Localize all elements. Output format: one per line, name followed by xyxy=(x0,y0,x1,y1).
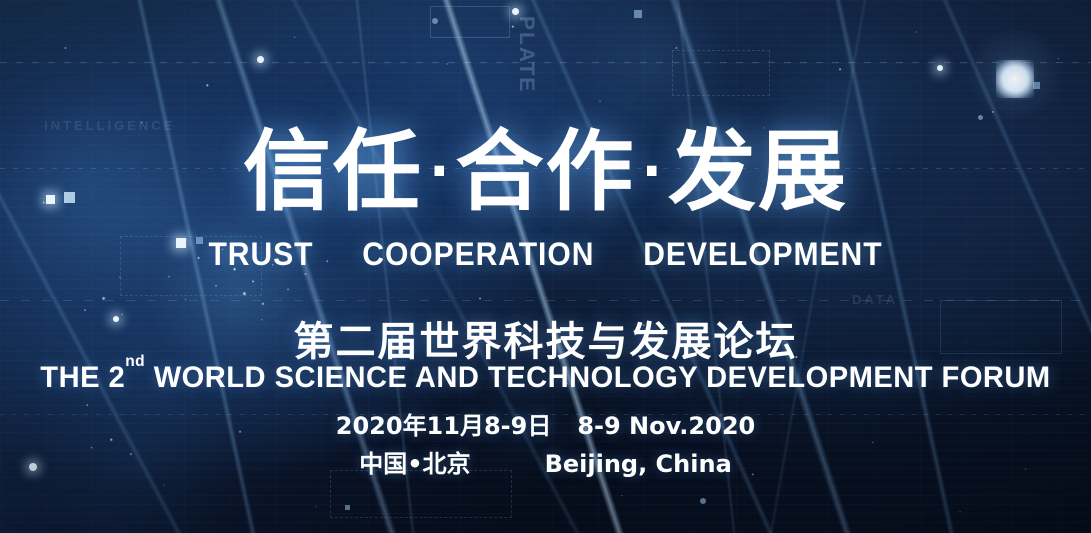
poster-content: 信任·合作·发展 TRUSTCOOPERATIONDEVELOPMENT 第二届… xyxy=(0,0,1091,533)
subtitle-word-cooperation: COOPERATION xyxy=(362,236,594,272)
event-date-chinese: 2020年11月8-9日 xyxy=(336,412,552,440)
event-date: 2020年11月8-9日8-9 Nov.2020 xyxy=(0,414,1091,438)
forum-title-prefix: THE 2 xyxy=(40,361,125,394)
forum-title-english: THE 2nd WORLD SCIENCE AND TECHNOLOGY DEV… xyxy=(16,363,1074,393)
event-location-english: Beijing, China xyxy=(545,450,732,478)
subtitle-word-trust: TRUST xyxy=(208,236,313,272)
forum-title-chinese: 第二届世界科技与发展论坛 xyxy=(0,322,1091,362)
headline-separator-dot: · xyxy=(642,140,663,203)
headline-slogan: 信任·合作·发展 xyxy=(0,128,1091,216)
headline-word-trust: 信任 xyxy=(243,120,423,223)
headline-slogan-english: TRUSTCOOPERATIONDEVELOPMENT xyxy=(33,238,1059,270)
forum-title-ordinal: nd xyxy=(125,353,145,370)
subtitle-word-development: DEVELOPMENT xyxy=(643,236,882,272)
forum-title-suffix: WORLD SCIENCE AND TECHNOLOGY DEVELOPMENT… xyxy=(145,361,1051,394)
headline-word-cooperation: 合作 xyxy=(455,120,635,223)
event-location-chinese: 中国•北京 xyxy=(359,450,470,478)
event-poster: PLATE INTELLIGENCE DATA 信任·合作·发展 TRUSTCO… xyxy=(0,0,1091,533)
event-date-english: 8-9 Nov.2020 xyxy=(577,412,755,440)
headline-word-development: 发展 xyxy=(668,120,848,223)
headline-separator-dot: · xyxy=(429,140,450,203)
event-location: 中国•北京Beijing, China xyxy=(0,452,1091,476)
